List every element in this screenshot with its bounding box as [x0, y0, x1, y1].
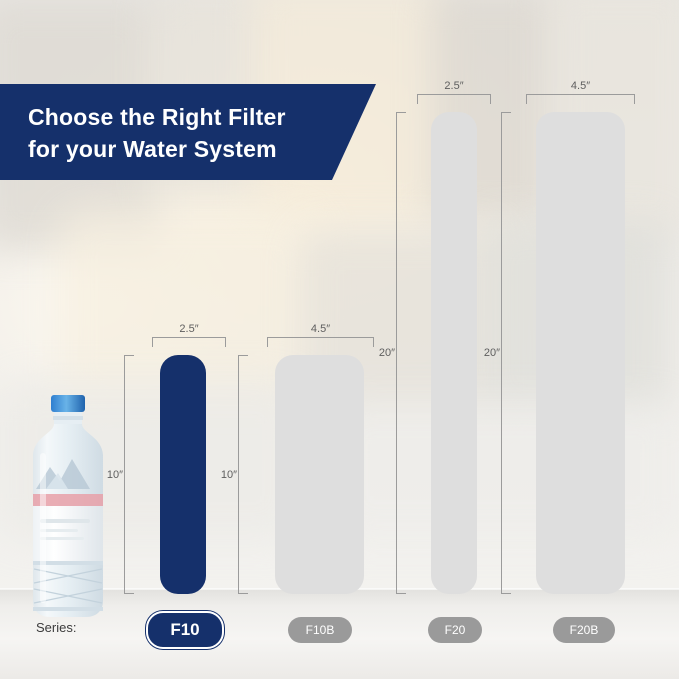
- f20b-width-dimension: 4.5″: [526, 84, 635, 106]
- series-pill-f10[interactable]: F10: [146, 611, 224, 649]
- dimension-tick-right: [225, 337, 226, 347]
- f10b-height-dimension: 10″: [228, 355, 248, 594]
- f10b-body[interactable]: [275, 355, 364, 594]
- water-bottle: [24, 393, 112, 620]
- f10b-height-label: 10″: [212, 469, 246, 481]
- dimension-tick-top: [124, 355, 134, 356]
- dimension-tick-left: [417, 94, 418, 104]
- f20b-body[interactable]: [536, 112, 625, 594]
- f10b-width-value: 4.5″: [307, 323, 334, 335]
- series-label: Series:: [36, 620, 76, 635]
- headline-line-1: Choose the Right Filter: [0, 84, 376, 132]
- series-pill-f10b[interactable]: F10B: [288, 617, 352, 643]
- f20-width-value: 2.5″: [440, 80, 467, 92]
- f20b-height-dimension: 20″: [491, 112, 511, 594]
- dimension-tick-bottom: [124, 593, 134, 594]
- dimension-tick-top: [396, 112, 406, 113]
- dimension-tick-right: [373, 337, 374, 347]
- dimension-tick-bottom: [396, 593, 406, 594]
- headline-banner: Choose the Right Filter for your Water S…: [0, 84, 376, 180]
- f20-height-label: 20″: [370, 347, 404, 359]
- f20b-height-label: 20″: [475, 347, 509, 359]
- f10-body[interactable]: [160, 355, 206, 594]
- f20-width-dimension: 2.5″: [417, 84, 491, 106]
- f20-width-label: 2.5″: [417, 80, 491, 92]
- f10-height-dimension: 10″: [114, 355, 134, 594]
- f20-body[interactable]: [431, 112, 477, 594]
- dimension-tick-top: [501, 112, 511, 113]
- headline-line-2: for your Water System: [0, 132, 376, 164]
- series-pill-f20b[interactable]: F20B: [553, 617, 615, 643]
- dimension-bar: [267, 337, 374, 338]
- dimension-tick-bottom: [238, 593, 248, 594]
- f10b-width-label: 4.5″: [267, 323, 374, 335]
- dimension-tick-left: [267, 337, 268, 347]
- f20-height-dimension: 20″: [386, 112, 406, 594]
- dimension-tick-right: [634, 94, 635, 104]
- dimension-bar: [417, 94, 491, 95]
- f10b-width-dimension: 4.5″: [267, 327, 374, 349]
- dimension-tick-bottom: [501, 593, 511, 594]
- dimension-bar: [152, 337, 226, 338]
- dimension-tick-right: [490, 94, 491, 104]
- series-pill-f20[interactable]: F20: [428, 617, 482, 643]
- dimension-tick-left: [526, 94, 527, 104]
- f20b-width-label: 4.5″: [526, 80, 635, 92]
- f10-width-dimension: 2.5″: [152, 327, 226, 349]
- f10-width-label: 2.5″: [152, 323, 226, 335]
- water-bottle-illustration: [24, 393, 112, 620]
- f10-width-value: 2.5″: [175, 323, 202, 335]
- dimension-bar: [526, 94, 635, 95]
- dimension-tick-left: [152, 337, 153, 347]
- dimension-tick-top: [238, 355, 248, 356]
- f20b-width-value: 4.5″: [567, 80, 594, 92]
- product-comparison-image: Choose the Right Filter for your Water S…: [0, 0, 679, 679]
